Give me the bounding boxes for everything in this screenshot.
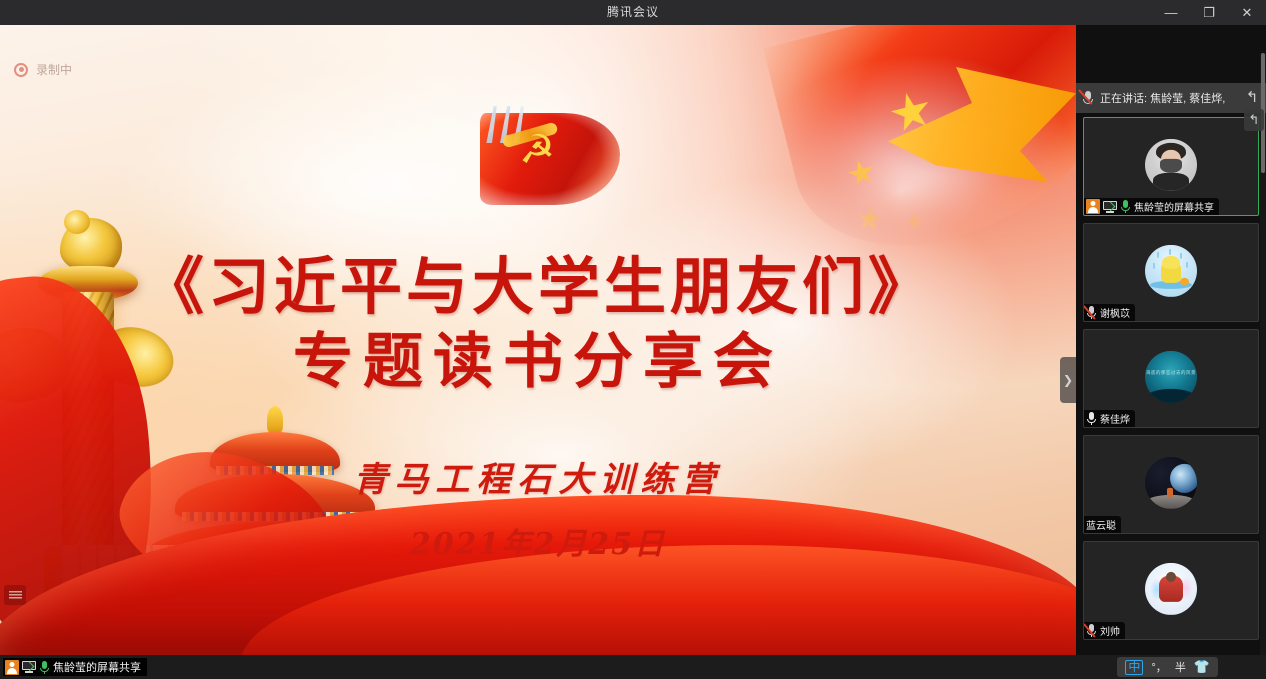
reply-arrow-icon[interactable]: ↰ [1244,109,1264,131]
screen-share-icon [1103,201,1117,213]
window-title: 腾讯会议 [0,0,1266,25]
participant-panel: 正在讲话: 焦龄莹, 蔡佳烨, ↰ 焦龄莹的屏幕共享 [1076,25,1266,655]
title-bar: 腾讯会议 — ❐ ✕ [0,0,1266,25]
participant-name-chip: 刘帅 [1084,622,1125,639]
slide-subtitle-organization: 青马工程石大训练营 [0,452,1076,501]
party-flag-decor: ☭ [480,113,620,205]
participant-tile[interactable]: 焦龄莹的屏幕共享 [1083,117,1259,216]
tencent-meeting-window: 腾讯会议 — ❐ ✕ ☭ [0,0,1266,679]
participant-tile-list[interactable]: 焦龄莹的屏幕共享 [1076,117,1266,655]
speaking-now-bar: 正在讲话: 焦龄莹, 蔡佳烨, ↰ [1076,83,1266,113]
chevron-right-icon[interactable]: ❯ [1060,357,1076,403]
reply-arrow-icon[interactable]: ↰ [1242,90,1262,106]
avatar [1145,244,1197,296]
taskbar-right-edge [1260,655,1266,679]
avatar: 海底的那些过去的风景 [1145,350,1197,402]
participant-tile[interactable]: 海底的那些过去的风景 蔡佳烨 [1083,329,1259,428]
screen-share-icon [22,661,36,673]
user-orange-icon [1086,199,1100,214]
slide-title-line-1: 《习近平与大学生朋友们》 [0,250,1076,324]
recording-label: 录制中 [36,61,72,78]
slide-subtitle-date: 2021年2月25日 [0,519,1076,563]
mic-muted-icon [1086,623,1097,638]
participant-name: 焦龄莹的屏幕共享 [1134,199,1214,214]
participant-name-chip: 焦龄莹的屏幕共享 [1084,198,1219,215]
presentation-slide: ☭ [0,25,1076,655]
flag-star-icon [856,206,882,232]
participant-name: 谢枫苡 [1100,305,1130,320]
user-orange-icon [5,660,19,675]
hammer-sickle-icon: ☭ [516,129,558,171]
avatar [1145,562,1197,614]
mic-on-icon [1120,199,1131,214]
taskbar-share-item[interactable]: 焦龄莹的屏幕共享 [3,658,147,676]
mic-on-icon [39,660,50,675]
shared-screen-stage[interactable]: ☭ [0,25,1076,655]
window-controls: — ❐ ✕ [1152,0,1266,25]
participant-name: 蓝云聪 [1086,517,1116,532]
ime-skin-icon[interactable]: 👕 [1194,659,1210,675]
avatar-caption: 海底的那些过去的风景 [1145,370,1197,376]
ime-width-toggle[interactable]: 半 [1175,659,1186,675]
mic-on-white-icon [1086,411,1097,426]
record-dot-icon [14,63,28,77]
flag-star-icon [904,211,926,233]
maximize-button[interactable]: ❐ [1190,0,1228,25]
avatar [1145,138,1197,190]
participant-tile[interactable]: 谢枫苡 [1083,223,1259,322]
avatar [1145,456,1197,508]
participant-name: 刘帅 [1100,623,1120,638]
taskbar-share-label: 焦龄莹的屏幕共享 [53,659,141,675]
panel-scrollbar[interactable] [1260,53,1266,655]
ime-tray[interactable]: 中 °， 半 👕 [1117,657,1218,677]
slide-text-block: 《习近平与大学生朋友们》 专题读书分享会 青马工程石大训练营 2021年2月25… [0,250,1076,563]
participant-tile[interactable]: 蓝云聪 [1083,435,1259,534]
recording-indicator: 录制中 [14,61,72,78]
mic-muted-icon [1080,89,1096,107]
ime-punctuation-toggle[interactable]: °， [1151,659,1166,675]
participant-name: 蔡佳烨 [1100,411,1130,426]
slide-title-line-2: 专题读书分享会 [0,324,1076,400]
taskbar: 焦龄莹的屏幕共享 中 °， 半 👕 [0,655,1266,679]
close-button[interactable]: ✕ [1228,0,1266,25]
ime-language-toggle[interactable]: 中 [1125,660,1143,675]
participant-name-chip: 谢枫苡 [1084,304,1135,321]
participant-name-chip: 蔡佳烨 [1084,410,1135,427]
slide-menu-icon[interactable] [4,585,26,605]
mic-muted-icon [1086,305,1097,320]
participant-name-chip: 蓝云聪 [1084,516,1121,533]
minimize-button[interactable]: — [1152,0,1190,25]
participant-tile[interactable]: 刘帅 [1083,541,1259,640]
speaking-now-label: 正在讲话: 焦龄莹, 蔡佳烨, [1096,90,1242,106]
flag-star-icon [845,158,877,190]
